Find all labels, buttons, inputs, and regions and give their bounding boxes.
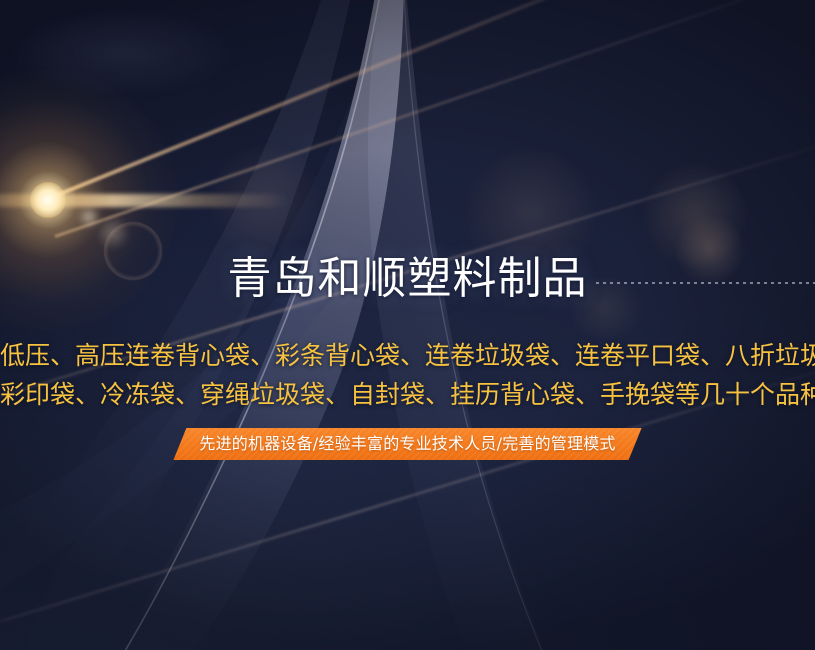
promo-banner: 青岛和顺塑料制品 低压、高压连卷背心袋、彩条背心袋、连卷垃圾袋、连卷平口袋、八折… (0, 0, 815, 650)
ribbon-container: 先进的机器设备/经验丰富的专业技术人员/完善的管理模式 (0, 428, 815, 460)
features-ribbon: 先进的机器设备/经验丰富的专业技术人员/完善的管理模式 (173, 428, 641, 460)
banner-subtitle: 低压、高压连卷背心袋、彩条背心袋、连卷垃圾袋、连卷平口袋、八折垃圾袋、 彩印袋、… (0, 336, 815, 414)
subtitle-line-1: 低压、高压连卷背心袋、彩条背心袋、连卷垃圾袋、连卷平口袋、八折垃圾袋、 (0, 336, 815, 375)
subtitle-line-2: 彩印袋、冷冻袋、穿绳垃圾袋、自封袋、挂历背心袋、手挽袋等几十个品种 (0, 375, 815, 414)
banner-title: 青岛和顺塑料制品 (0, 252, 815, 306)
banner-content: 青岛和顺塑料制品 低压、高压连卷背心袋、彩条背心袋、连卷垃圾袋、连卷平口袋、八折… (0, 0, 815, 650)
